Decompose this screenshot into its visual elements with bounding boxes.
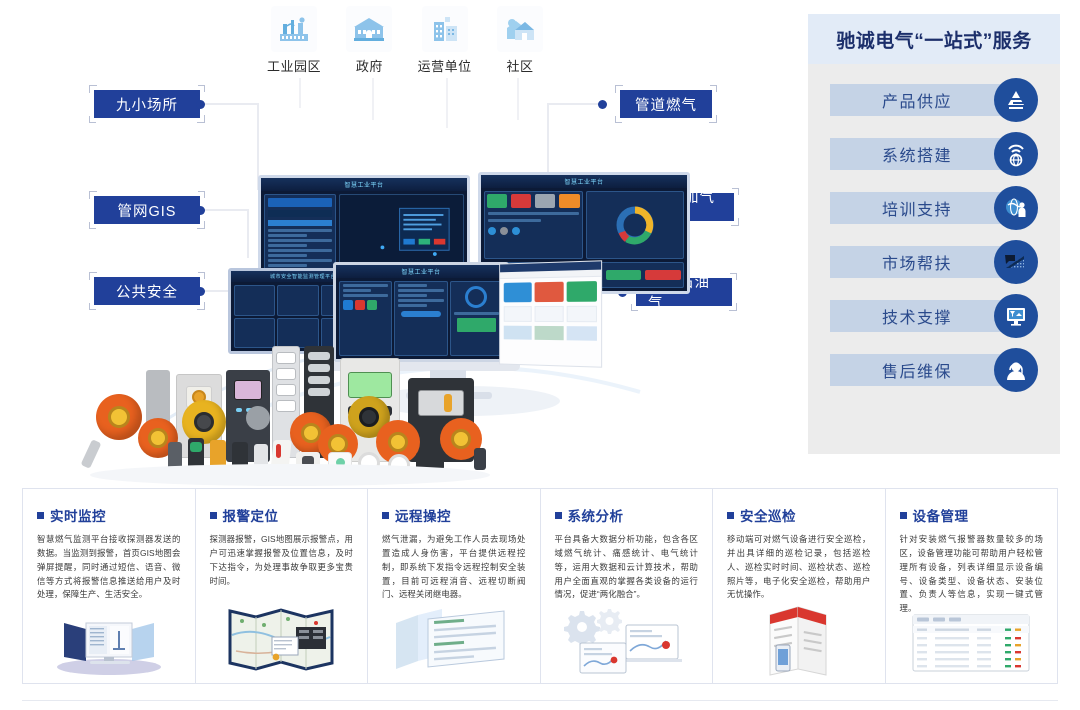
card-header: 远程操控 <box>382 505 526 525</box>
service-list: 产品供应 系统搭建 <box>808 64 1060 392</box>
service-item-market-support[interactable]: 市场帮扶 <box>830 240 1038 284</box>
bullet-square-icon <box>37 512 44 519</box>
network-globe-icon <box>994 132 1038 176</box>
service-item-bar: 产品供应 <box>830 84 1004 116</box>
card-description: 探测器报警，GIS地图展示报警点，用户可迅速掌握报警及位置信息，及时下达指令，为… <box>210 533 354 588</box>
card-header: 系统分析 <box>555 505 699 525</box>
hero-illustration: 智慧工业平台 <box>0 0 800 490</box>
device-table-illustration <box>886 599 1058 677</box>
feature-cards: 实时监控 智慧燃气监测平台接收探测器发送的数据。当监测到报警，首页GIS地图会弹… <box>22 488 1058 684</box>
card-description: 智慧燃气监测平台接收探测器发送的数据。当监测到报警，首页GIS地图会弹屏提醒，同… <box>37 533 181 602</box>
screen-body <box>336 278 506 359</box>
bullet-square-icon <box>555 512 562 519</box>
service-panel: 驰诚电气“一站式”服务 产品供应 系统搭建 <box>808 14 1060 454</box>
service-item-bar: 培训支持 <box>830 192 1004 224</box>
screen-title-bar: 智慧工业平台 <box>481 175 687 188</box>
monitor-dashboard-illustration <box>23 599 195 677</box>
service-item-training[interactable]: 培训支持 <box>830 186 1038 230</box>
service-item-label: 市场帮扶 <box>882 250 952 274</box>
service-item-bar: 售后维保 <box>830 354 1004 386</box>
training-globe-icon <box>994 186 1038 230</box>
feature-card-remote-control[interactable]: 远程操控 燃气泄漏，为避免工作人员去现场处置造成人身伤害，平台提供远程控制，即系… <box>367 489 540 683</box>
service-item-system-build[interactable]: 系统搭建 <box>830 132 1038 176</box>
screen-title: 智慧工业平台 <box>564 177 603 186</box>
feature-card-realtime-monitoring[interactable]: 实时监控 智慧燃气监测平台接收探测器发送的数据。当监测到报警，首页GIS地图会弹… <box>23 489 195 683</box>
bullet-square-icon <box>382 512 389 519</box>
mobile-inspection-illustration <box>713 599 885 677</box>
market-chart-icon <box>994 240 1038 284</box>
service-item-after-sales[interactable]: 售后维保 <box>830 348 1038 392</box>
service-item-label: 技术支撑 <box>882 304 952 328</box>
bullet-square-icon <box>900 512 907 519</box>
bullet-square-icon <box>210 512 217 519</box>
screen-title: 智慧工业平台 <box>401 267 440 276</box>
bottom-divider <box>22 700 1058 701</box>
card-title: 实时监控 <box>50 505 106 525</box>
card-title: 安全巡检 <box>740 505 796 525</box>
bullet-square-icon <box>727 512 734 519</box>
folded-map-illustration <box>196 599 368 677</box>
card-title: 系统分析 <box>568 505 624 525</box>
screen-title-bar: 智慧工业平台 <box>261 178 467 191</box>
gears-analytics-illustration <box>541 599 713 677</box>
remote-control-screens-illustration <box>368 599 540 677</box>
feature-card-system-analysis[interactable]: 系统分析 平台具备大数据分析功能，包含各区域燃气统计、痛感统计、电气统计等，运用… <box>540 489 713 683</box>
feature-card-alarm-location[interactable]: 报警定位 探测器报警，GIS地图展示报警点，用户可迅速掌握报警及位置信息，及时下… <box>195 489 368 683</box>
screen-title: 城市安全智能监测管理平台 <box>270 273 336 280</box>
service-item-technical-support[interactable]: 技术支撑 <box>830 294 1038 338</box>
service-panel-title-text: 驰诚电气“一站式”服务 <box>836 26 1032 53</box>
card-header: 实时监控 <box>37 505 181 525</box>
service-item-label: 培训支持 <box>882 196 952 220</box>
service-item-label: 系统搭建 <box>882 142 952 166</box>
screen-title-bar: 智慧工业平台 <box>336 265 506 278</box>
service-item-product-supply[interactable]: 产品供应 <box>830 78 1038 122</box>
card-header: 设备管理 <box>900 505 1044 525</box>
device-shadow <box>90 464 490 486</box>
product-supply-icon <box>994 78 1038 122</box>
poster-stage: 工业园区 政府 <box>0 0 1080 710</box>
laptop-screen: 智慧工业平台 <box>333 262 509 362</box>
headset-support-icon <box>994 348 1038 392</box>
screen-title: 智慧工业平台 <box>344 180 383 189</box>
technical-monitor-icon <box>994 294 1038 338</box>
card-header: 报警定位 <box>210 505 354 525</box>
service-item-bar: 市场帮扶 <box>830 246 1004 278</box>
service-item-label: 售后维保 <box>882 358 952 382</box>
card-title: 设备管理 <box>913 505 969 525</box>
feature-card-device-management[interactable]: 设备管理 针对安装燃气报警器数量较多的场区，设备管理功能可帮助用户轻松管理所有设… <box>885 489 1058 683</box>
service-item-bar: 系统搭建 <box>830 138 1004 170</box>
service-item-label: 产品供应 <box>882 88 952 112</box>
website-preview <box>499 260 602 367</box>
card-description: 平台具备大数据分析功能，包含各区域燃气统计、痛感统计、电气统计等，运用大数据和云… <box>555 533 699 602</box>
card-description: 燃气泄漏，为避免工作人员去现场处置造成人身伤害，平台提供远程控制，即系统下发指令… <box>382 533 526 602</box>
service-panel-title: 驰诚电气“一站式”服务 <box>808 14 1060 64</box>
service-item-bar: 技术支撑 <box>830 300 1004 332</box>
card-description: 移动端可对燃气设备进行安全巡检，并出具详细的巡检记录，包括巡检人、巡检实时时间、… <box>727 533 871 602</box>
card-header: 安全巡检 <box>727 505 871 525</box>
feature-card-safety-inspection[interactable]: 安全巡检 移动端可对燃气设备进行安全巡检，并出具详细的巡检记录，包括巡检人、巡检… <box>712 489 885 683</box>
card-title: 报警定位 <box>223 505 279 525</box>
card-title: 远程操控 <box>395 505 451 525</box>
